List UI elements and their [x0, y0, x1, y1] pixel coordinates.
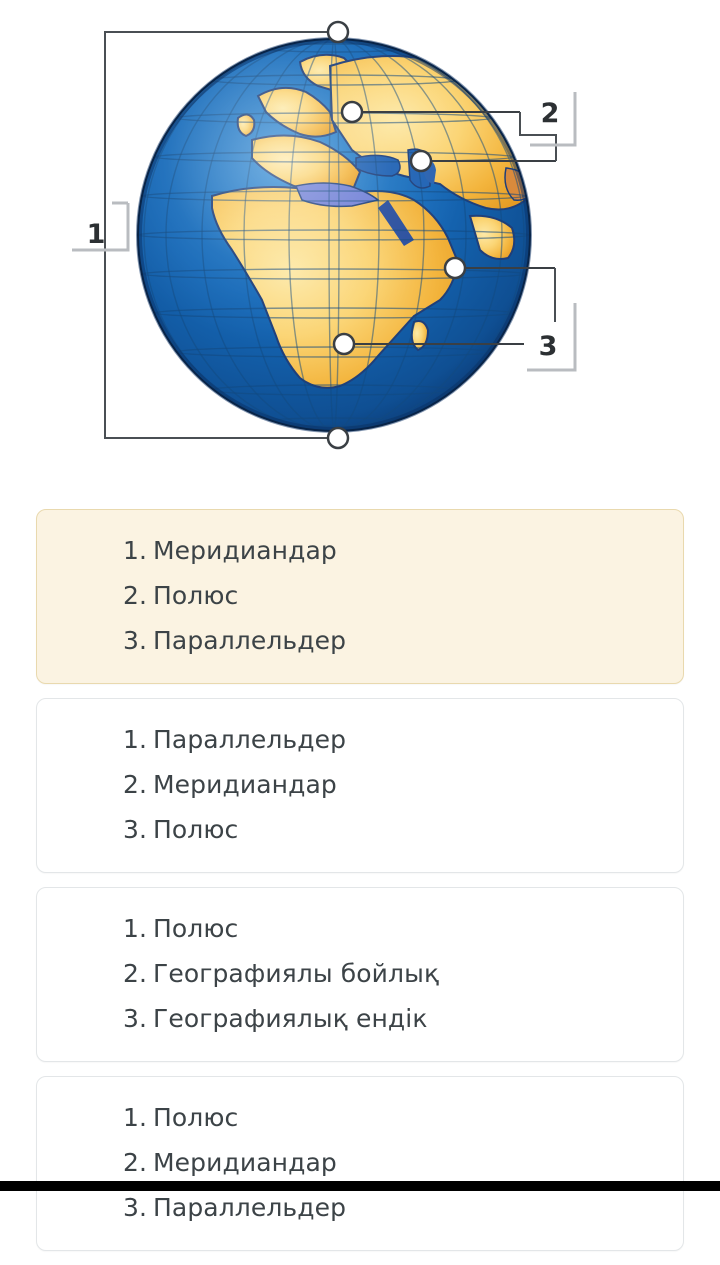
option-line: 3. Полюс — [37, 807, 683, 852]
answer-options-list: 1. Меридиандар 2. Полюс 3. Параллельдер … — [36, 509, 684, 1265]
option-line-number: 1. — [123, 906, 153, 951]
callout-2-label: 2 — [541, 98, 560, 129]
option-line-number: 1. — [123, 528, 153, 573]
option-line-number: 3. — [123, 618, 153, 663]
marker-parallel-lower — [445, 258, 465, 278]
option-line-text: Меридиандар — [153, 528, 683, 573]
marker-meridian-mid — [411, 151, 431, 171]
callout-1-label: 1 — [87, 219, 106, 250]
answer-option-4[interactable]: 1. Полюс 2. Меридиандар 3. Параллельдер — [36, 1076, 684, 1251]
option-line-number: 1. — [123, 1095, 153, 1140]
option-line: 3. Географиялық ендік — [37, 996, 683, 1041]
answer-option-3[interactable]: 1. Полюс 2. Географиялы бойлық 3. Геогра… — [36, 887, 684, 1062]
option-line-text: Параллельдер — [153, 717, 683, 762]
option-line: 1. Полюс — [37, 1095, 683, 1140]
globe-sphere — [138, 39, 535, 431]
option-line-number: 2. — [123, 762, 153, 807]
option-line-number: 2. — [123, 951, 153, 996]
option-line-text: Параллельдер — [153, 1185, 683, 1230]
option-line: 2. Меридиандар — [37, 1140, 683, 1185]
bottom-black-bar — [0, 1181, 720, 1191]
marker-south-region — [334, 334, 354, 354]
answer-option-1[interactable]: 1. Меридиандар 2. Полюс 3. Параллельдер — [36, 509, 684, 684]
option-line-number: 2. — [123, 1140, 153, 1185]
option-line: 2. Географиялы бойлық — [37, 951, 683, 996]
callout-3-label: 3 — [539, 331, 558, 362]
option-line-number: 2. — [123, 573, 153, 618]
option-line-number: 3. — [123, 996, 153, 1041]
option-line-text: Географиялы бойлық — [153, 951, 683, 996]
option-line-number: 3. — [123, 807, 153, 852]
marker-north-pole — [328, 22, 348, 42]
option-line-text: Полюс — [153, 1095, 683, 1140]
option-line-text: Параллельдер — [153, 618, 683, 663]
answer-option-2[interactable]: 1. Параллельдер 2. Меридиандар 3. Полюс — [36, 698, 684, 873]
option-line-number: 1. — [123, 717, 153, 762]
option-line-text: Меридиандар — [153, 762, 683, 807]
option-line-text: Географиялық ендік — [153, 996, 683, 1041]
marker-parallel-upper — [342, 102, 362, 122]
option-line: 1. Меридиандар — [37, 528, 683, 573]
marker-south-pole — [328, 428, 348, 448]
option-line: 3. Параллельдер — [37, 618, 683, 663]
option-line-text: Полюс — [153, 573, 683, 618]
globe-diagram-svg: 1 2 3 — [0, 0, 720, 480]
option-line: 1. Полюс — [37, 906, 683, 951]
option-line: 2. Меридиандар — [37, 762, 683, 807]
option-line-number: 3. — [123, 1185, 153, 1230]
option-line: 2. Полюс — [37, 573, 683, 618]
option-line-text: Полюс — [153, 906, 683, 951]
option-line: 3. Параллельдер — [37, 1185, 683, 1230]
option-line: 1. Параллельдер — [37, 717, 683, 762]
question-illustration: 1 2 3 — [0, 0, 720, 480]
option-line-text: Полюс — [153, 807, 683, 852]
option-line-text: Меридиандар — [153, 1140, 683, 1185]
